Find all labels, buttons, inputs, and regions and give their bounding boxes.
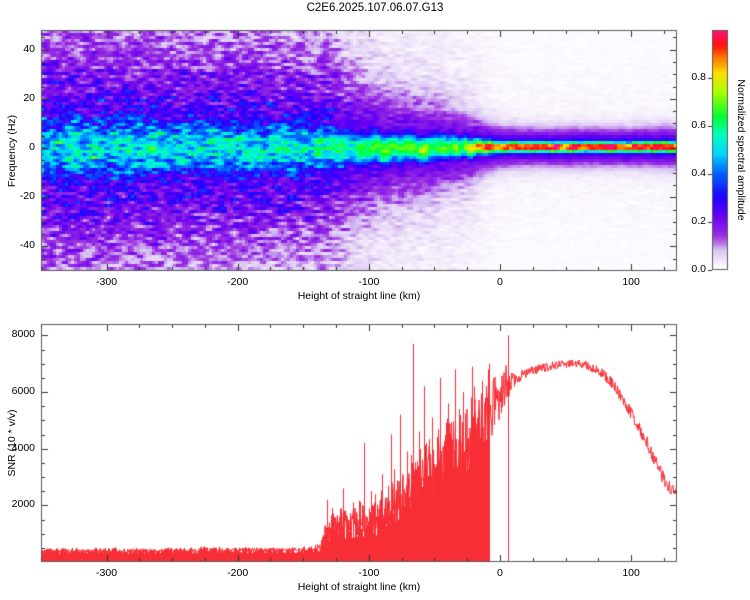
figure-canvas bbox=[0, 0, 750, 600]
figure-container: C2E6.2025.107.06.07.G13 -300-200-1000100… bbox=[0, 0, 750, 600]
